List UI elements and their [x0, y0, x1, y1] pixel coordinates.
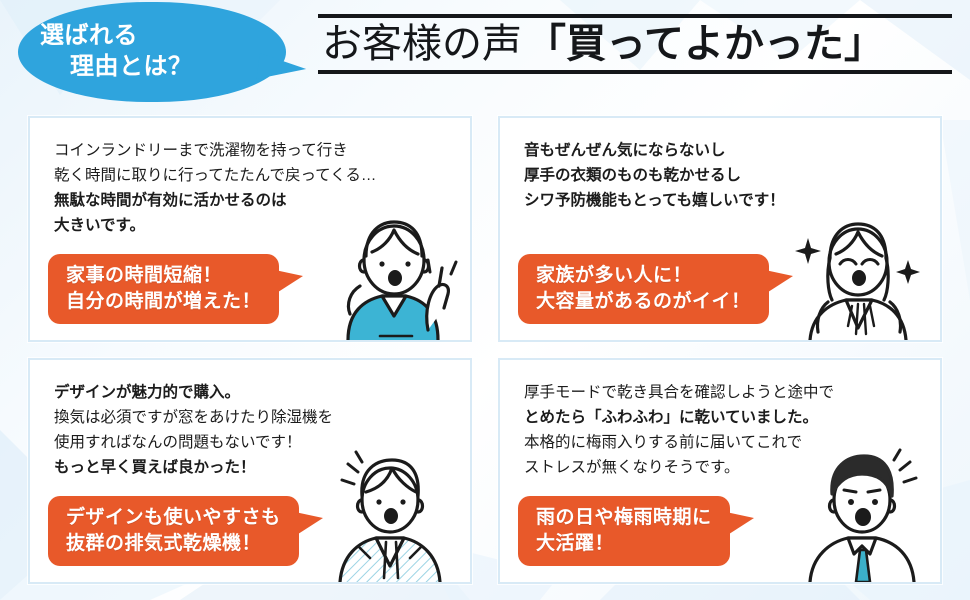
woman-pointing-icon [320, 208, 460, 340]
highlight-line: デザインも使いやすさも [66, 505, 281, 530]
highlight-bubble-tail-icon [726, 512, 754, 536]
page-title-bold: 「買ってよかった」 [526, 22, 884, 68]
highlight-bubble-2: 家族が多い人に！ 大容量があるのがイイ！ [518, 254, 769, 324]
highlight-bubble-tail-icon [295, 512, 323, 536]
testimonial-text-2: 音もぜんぜん気にならないし 厚手の衣類のものも乾かせるし シワ予防機能もとっても… [524, 138, 932, 213]
highlight-line: 家事の時間短縮！ [66, 263, 261, 288]
highlight-bubble-tail-icon [275, 270, 303, 294]
testimonial-grid: コインランドリーまで洗濯物を持って行き 乾く時間に取りに行ってたたんで戻ってくる… [28, 116, 942, 584]
reason-badge-line1: 選ばれる [18, 21, 286, 52]
highlight-line: 雨の日や梅雨時期に [536, 505, 712, 530]
highlight-line: 大活躍！ [536, 531, 712, 556]
highlight-bubble-4: 雨の日や梅雨時期に 大活躍！ [518, 496, 730, 566]
reason-badge-text: 選ばれる 理由とは？ [18, 2, 286, 102]
page-title: お客様の声 「買ってよかった」 [318, 14, 952, 74]
highlight-bubble-1: 家事の時間短縮！ 自分の時間が増えた！ [48, 254, 279, 324]
woman-shorthair-icon [318, 442, 458, 582]
highlight-line: 抜群の排気式乾燥機！ [66, 531, 281, 556]
highlight-line: 自分の時間が増えた！ [66, 289, 261, 314]
testimonial-line: 乾く時間に取りに行ってたたんで戻ってくる… [54, 163, 462, 188]
testimonial-line: 厚手モードで乾き具合を確認しようと途中で [524, 380, 932, 405]
woman-delighted-icon [786, 208, 926, 340]
reason-badge-line2: 理由とは？ [18, 52, 286, 83]
testimonial-card-1: コインランドリーまで洗濯物を持って行き 乾く時間に取りに行ってたたんで戻ってくる… [28, 116, 472, 342]
page-title-normal: お客様の声 [322, 22, 522, 68]
testimonial-line: 厚手の衣類のものも乾かせるし [524, 163, 932, 188]
testimonial-line: コインランドリーまで洗濯物を持って行き [54, 138, 462, 163]
man-surprised-icon [790, 442, 930, 582]
highlight-bubble-3: デザインも使いやすさも 抜群の排気式乾燥機！ [48, 496, 299, 566]
testimonial-page: 選ばれる 理由とは？ お客様の声 「買ってよかった」 コインランドリーまで洗濯物… [0, 0, 970, 600]
testimonial-line: 音もぜんぜん気にならないし [524, 138, 932, 163]
testimonial-line: デザインが魅力的で購入。 [54, 380, 462, 405]
highlight-bubble-tail-icon [765, 270, 793, 294]
testimonial-line: とめたら「ふわふわ」に乾いていました。 [524, 405, 932, 430]
highlight-line: 大容量があるのがイイ！ [536, 289, 751, 314]
highlight-line: 家族が多い人に！ [536, 263, 751, 288]
testimonial-card-4: 厚手モードで乾き具合を確認しようと途中で とめたら「ふわふわ」に乾いていました。… [498, 358, 942, 584]
testimonial-line: 換気は必須ですが窓をあけたり除湿機を [54, 405, 462, 430]
testimonial-card-3: デザインが魅力的で購入。 換気は必須ですが窓をあけたり除湿機を 使用すればなんの… [28, 358, 472, 584]
testimonial-card-2: 音もぜんぜん気にならないし 厚手の衣類のものも乾かせるし シワ予防機能もとっても… [498, 116, 942, 342]
page-header: 選ばれる 理由とは？ お客様の声 「買ってよかった」 [0, 0, 970, 108]
